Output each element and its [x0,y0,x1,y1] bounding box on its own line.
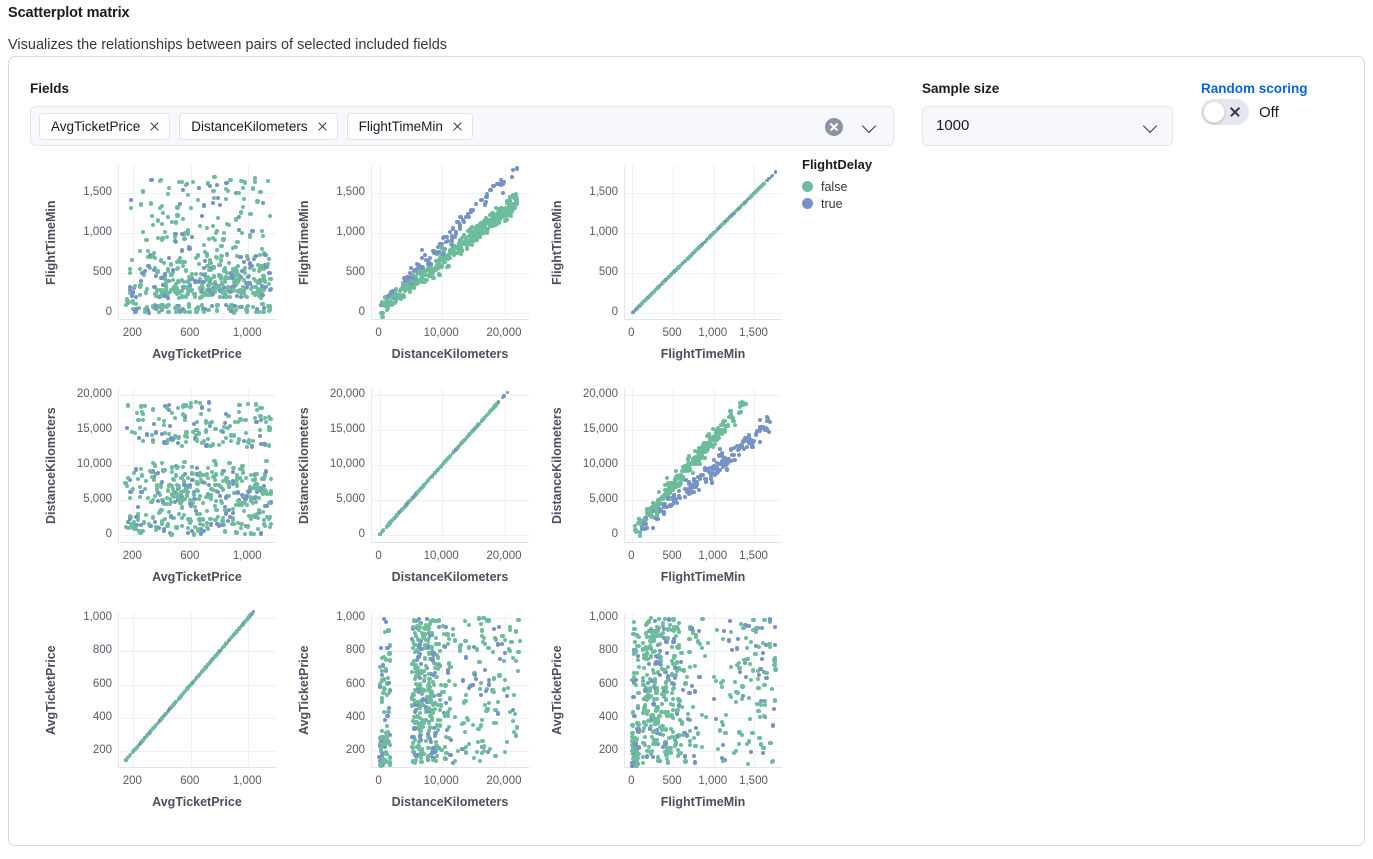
data-point [477,616,481,620]
data-point [253,477,257,481]
data-point [505,740,509,744]
data-point [728,619,732,623]
data-point [486,750,490,754]
data-point [444,751,448,755]
data-point [454,448,457,451]
data-point [473,673,477,677]
scatterplot-cell[interactable]: 2004006008001,0002006001,000AvgTicketPri… [30,601,283,833]
data-point [429,631,433,635]
data-point [738,405,742,409]
data-point [202,243,206,247]
data-point [221,440,225,444]
data-point [243,266,247,270]
scatterplot-cell[interactable]: 2004006008001,000010,00020,000AvgTicketP… [283,601,536,833]
data-point [657,490,661,494]
data-point [167,186,171,190]
scatterplot-cell[interactable]: 05,00010,00015,00020,0002006001,000Dista… [30,376,283,601]
data-point [254,500,258,504]
data-point [486,618,490,622]
data-point [678,496,682,500]
legend-item[interactable]: false [802,178,872,195]
data-point [667,746,671,750]
data-point [672,656,676,660]
data-point [170,470,174,474]
data-point [380,315,384,319]
data-point [138,495,142,499]
data-point [434,675,438,679]
data-point [438,649,442,653]
data-point [427,699,431,703]
data-point [236,490,240,494]
data-point [158,493,162,497]
data-point [167,432,171,436]
data-point [191,180,195,184]
data-point [696,731,700,735]
data-point [760,626,764,630]
data-point [438,693,442,697]
y-axis-tick-label: 1,500 [305,186,365,198]
data-point [238,417,242,421]
data-point [426,758,430,762]
data-point [456,749,460,753]
data-point [385,760,389,764]
data-point [170,465,174,469]
data-point [724,462,728,466]
data-point [184,268,188,272]
y-axis-label: DistanceKilometers [550,388,564,543]
data-point [482,636,486,640]
plot-area [118,613,276,768]
data-point [671,481,675,485]
data-point [148,253,152,257]
data-point [141,418,145,422]
data-point [145,432,149,436]
data-point [650,713,654,717]
data-point [253,416,257,420]
data-point [154,293,158,297]
data-point [162,423,166,427]
data-point [151,515,155,519]
data-point [451,633,455,637]
data-point [220,523,224,527]
data-point [160,303,164,307]
data-point [384,735,388,739]
y-axis-tick-label: 1,000 [305,611,365,623]
data-point [256,516,260,520]
data-point [651,755,655,759]
random-scoring-toggle[interactable] [1201,99,1249,125]
data-point [713,434,717,438]
data-point [126,526,130,530]
x-axis-label: DistanceKilometers [371,795,529,809]
y-axis-tick-label: 15,000 [558,423,618,435]
gridline-horizontal [372,430,529,431]
data-point [167,483,171,487]
data-point [453,715,457,719]
data-point [439,748,443,752]
data-point [262,306,266,310]
data-point [651,730,655,734]
data-point [139,404,143,408]
field-pill-label: AvgTicketPrice [51,119,140,134]
data-point [443,713,447,717]
data-point [165,406,169,410]
data-point [421,725,425,729]
data-point [160,238,164,242]
data-point [630,731,634,735]
data-point [452,253,456,257]
data-point [160,291,164,295]
data-point [721,637,725,641]
data-point [461,218,465,222]
data-point [656,628,660,632]
data-point [227,461,231,465]
gridline-horizontal [372,465,529,466]
data-point [240,479,244,483]
data-point [225,253,229,257]
data-point [505,694,509,698]
data-point [185,493,189,497]
data-point [637,644,641,648]
data-point [383,304,387,308]
data-point [693,664,697,668]
data-point [694,455,698,459]
data-point [677,482,681,486]
field-pill[interactable]: DistanceKilometers [179,113,337,140]
data-point [435,723,439,727]
data-point [438,698,442,702]
data-point [464,655,468,659]
data-point [267,304,271,308]
data-point [385,646,389,650]
data-point [655,517,659,521]
data-point [249,517,253,521]
data-point [135,411,139,415]
data-point [763,703,767,707]
data-point [198,224,202,228]
data-point [147,522,151,526]
data-point [675,660,679,664]
data-point [228,295,232,299]
data-point [267,516,271,520]
scatterplot-cell[interactable]: 05,00010,00015,00020,000010,00020,000Dis… [283,376,536,601]
data-point [180,524,184,528]
data-point [212,274,216,278]
data-point [747,739,751,743]
data-point [654,709,658,713]
data-point [248,212,252,216]
scatterplot-cell[interactable]: 05001,0001,5002006001,000FlightTimeMinAv… [30,153,283,376]
data-point [243,180,247,184]
data-point [754,626,758,630]
data-point [213,290,217,294]
data-point [180,232,184,236]
data-point [652,629,656,633]
data-point [414,674,418,678]
data-point [492,721,496,725]
data-point [140,529,144,533]
data-point [166,303,170,307]
data-point [171,278,175,282]
scatterplot-cell[interactable]: 05,00010,00015,00020,00005001,0001,500Di… [536,376,789,601]
data-point [209,487,213,491]
data-point [635,758,639,762]
data-point [254,279,258,283]
data-point [212,459,216,463]
remove-field-icon[interactable] [149,121,160,132]
data-point [751,628,755,632]
data-point [264,469,268,473]
data-point [268,417,272,421]
data-point [182,460,186,464]
data-point [690,626,694,630]
data-point [199,412,203,416]
data-point [162,529,166,533]
data-point [224,495,228,499]
data-point [689,491,693,495]
data-point [253,179,257,183]
data-point [762,683,766,687]
data-point [156,471,160,475]
data-point [134,467,138,471]
data-point [259,531,263,535]
data-point [192,292,196,296]
data-point [414,666,418,670]
data-point [471,208,475,212]
data-point [217,263,221,267]
data-point [379,749,383,753]
y-axis-tick-label: 5,000 [305,493,365,505]
data-point [664,727,668,731]
data-point [196,198,200,202]
data-point [641,711,645,715]
data-point [448,696,452,700]
gridline-horizontal [625,233,782,234]
plot-area [371,388,529,543]
data-point [467,623,471,627]
data-point [255,199,259,203]
data-point [158,179,162,183]
data-point [221,237,225,241]
data-point [213,655,216,658]
data-point [446,642,450,646]
data-point [764,671,768,675]
data-point [223,508,227,512]
data-point [761,746,765,750]
data-point [697,488,701,492]
data-point [688,743,692,747]
data-point [413,703,417,707]
data-point [237,228,241,232]
data-point [480,718,484,722]
data-point [636,722,640,726]
data-point [205,253,209,257]
clear-circle-icon[interactable] [825,118,843,136]
data-point [267,428,271,432]
data-point [151,407,155,411]
legend-item[interactable]: true [802,195,872,212]
scatterplot-cell[interactable]: 05001,0001,500010,00020,000FlightTimeMin… [283,153,536,376]
data-point [636,658,640,662]
data-point [472,756,476,760]
data-point [737,207,740,210]
data-point [180,248,184,252]
data-point [693,689,697,693]
data-point [141,189,145,193]
data-point [500,634,504,638]
legend-title: FlightDelay [802,157,872,172]
data-point [433,734,437,738]
data-point [673,735,677,739]
data-point [760,425,764,429]
data-point [174,525,178,529]
data-point [202,203,206,207]
data-point [388,755,392,759]
data-point [503,678,507,682]
sample-size-select[interactable]: 1000 [922,106,1173,146]
data-point [665,651,669,655]
cross-icon [1229,106,1241,118]
data-point [677,643,681,647]
data-point [436,728,440,732]
remove-field-icon[interactable] [317,121,328,132]
data-point [437,642,441,646]
data-point [758,440,762,444]
data-point [706,641,710,645]
random-scoring-label[interactable]: Random scoring [1201,81,1308,96]
data-point [501,396,504,399]
data-point [712,697,716,701]
data-point [480,739,484,743]
data-point [651,526,655,530]
x-axis-label: AvgTicketPrice [118,570,276,584]
data-point [503,750,507,754]
data-point [234,308,238,312]
data-point [151,440,155,444]
data-point [128,271,132,275]
fields-combobox[interactable]: AvgTicketPriceDistanceKilometersFlightTi… [30,106,894,146]
x-axis-tick-label: 1,000 [217,550,277,562]
field-pill[interactable]: FlightTimeMin [347,113,473,140]
data-point [198,471,202,475]
data-point [660,702,664,706]
data-point [419,738,423,742]
data-point [264,459,268,463]
data-point [643,688,647,692]
scatterplot-cell[interactable]: 05001,0001,50005001,0001,500FlightTimeMi… [536,153,789,376]
y-axis-label: DistanceKilometers [297,388,311,543]
data-point [767,642,771,646]
data-point [221,430,225,434]
y-axis-tick-label: 500 [52,266,112,278]
data-point [516,650,520,654]
data-point [478,687,482,691]
data-point [720,756,724,760]
data-point [496,711,500,715]
data-point [509,640,513,644]
y-axis-tick-label: 600 [305,678,365,690]
data-point [515,166,519,170]
data-point [739,622,743,626]
data-point [667,736,671,740]
data-point [685,675,689,679]
data-point [173,416,177,420]
data-point [230,275,234,279]
scatterplot-matrix-grid: 05001,0001,5002006001,000FlightTimeMinAv… [30,153,789,833]
data-point [184,294,188,298]
gridline-vertical [632,165,633,319]
data-point [460,722,464,726]
data-point [744,675,748,679]
data-point [260,293,264,297]
data-point [657,286,660,289]
data-point [150,214,154,218]
data-point [385,308,389,312]
data-point [173,239,177,243]
data-point [712,458,716,462]
data-point [181,217,185,221]
scatterplot-cell[interactable]: 2004006008001,00005001,0001,500AvgTicket… [536,601,789,833]
field-pill-label: DistanceKilometers [191,119,307,134]
data-point [154,430,158,434]
data-point [649,655,653,659]
data-point [136,505,140,509]
gridline-horizontal [119,651,276,652]
data-point [195,466,199,470]
data-point [235,280,239,284]
data-point [206,437,210,441]
data-point [261,201,265,205]
data-point [171,492,175,496]
data-point [657,617,661,621]
data-point [417,269,421,273]
remove-field-icon[interactable] [452,121,463,132]
data-point [234,531,238,535]
data-point [154,274,158,278]
field-pill[interactable]: AvgTicketPrice [39,113,170,140]
data-point [715,470,719,474]
data-point [478,759,482,763]
data-point [244,431,248,435]
data-point [222,231,226,235]
y-axis-tick-label: 400 [52,711,112,723]
gridline-horizontal [372,193,529,194]
data-point [202,273,206,277]
plot-area [624,613,782,768]
data-point [487,682,491,686]
data-point [486,646,490,650]
data-point [718,447,722,451]
data-point [749,678,753,682]
data-point [234,503,238,507]
x-axis-tick-label: 0 [349,327,409,339]
data-point [236,264,240,268]
data-point [500,642,504,646]
data-point [453,683,457,687]
data-point [692,754,696,758]
data-point [181,412,185,416]
chevron-down-icon[interactable] [863,120,876,133]
data-point [268,277,272,281]
data-point [153,520,157,524]
data-point [666,496,670,500]
data-point [756,709,760,713]
data-point [693,744,697,748]
data-point [267,443,271,447]
chevron-down-icon[interactable] [1144,120,1157,133]
gridline-horizontal [372,273,529,274]
data-point [461,440,464,443]
